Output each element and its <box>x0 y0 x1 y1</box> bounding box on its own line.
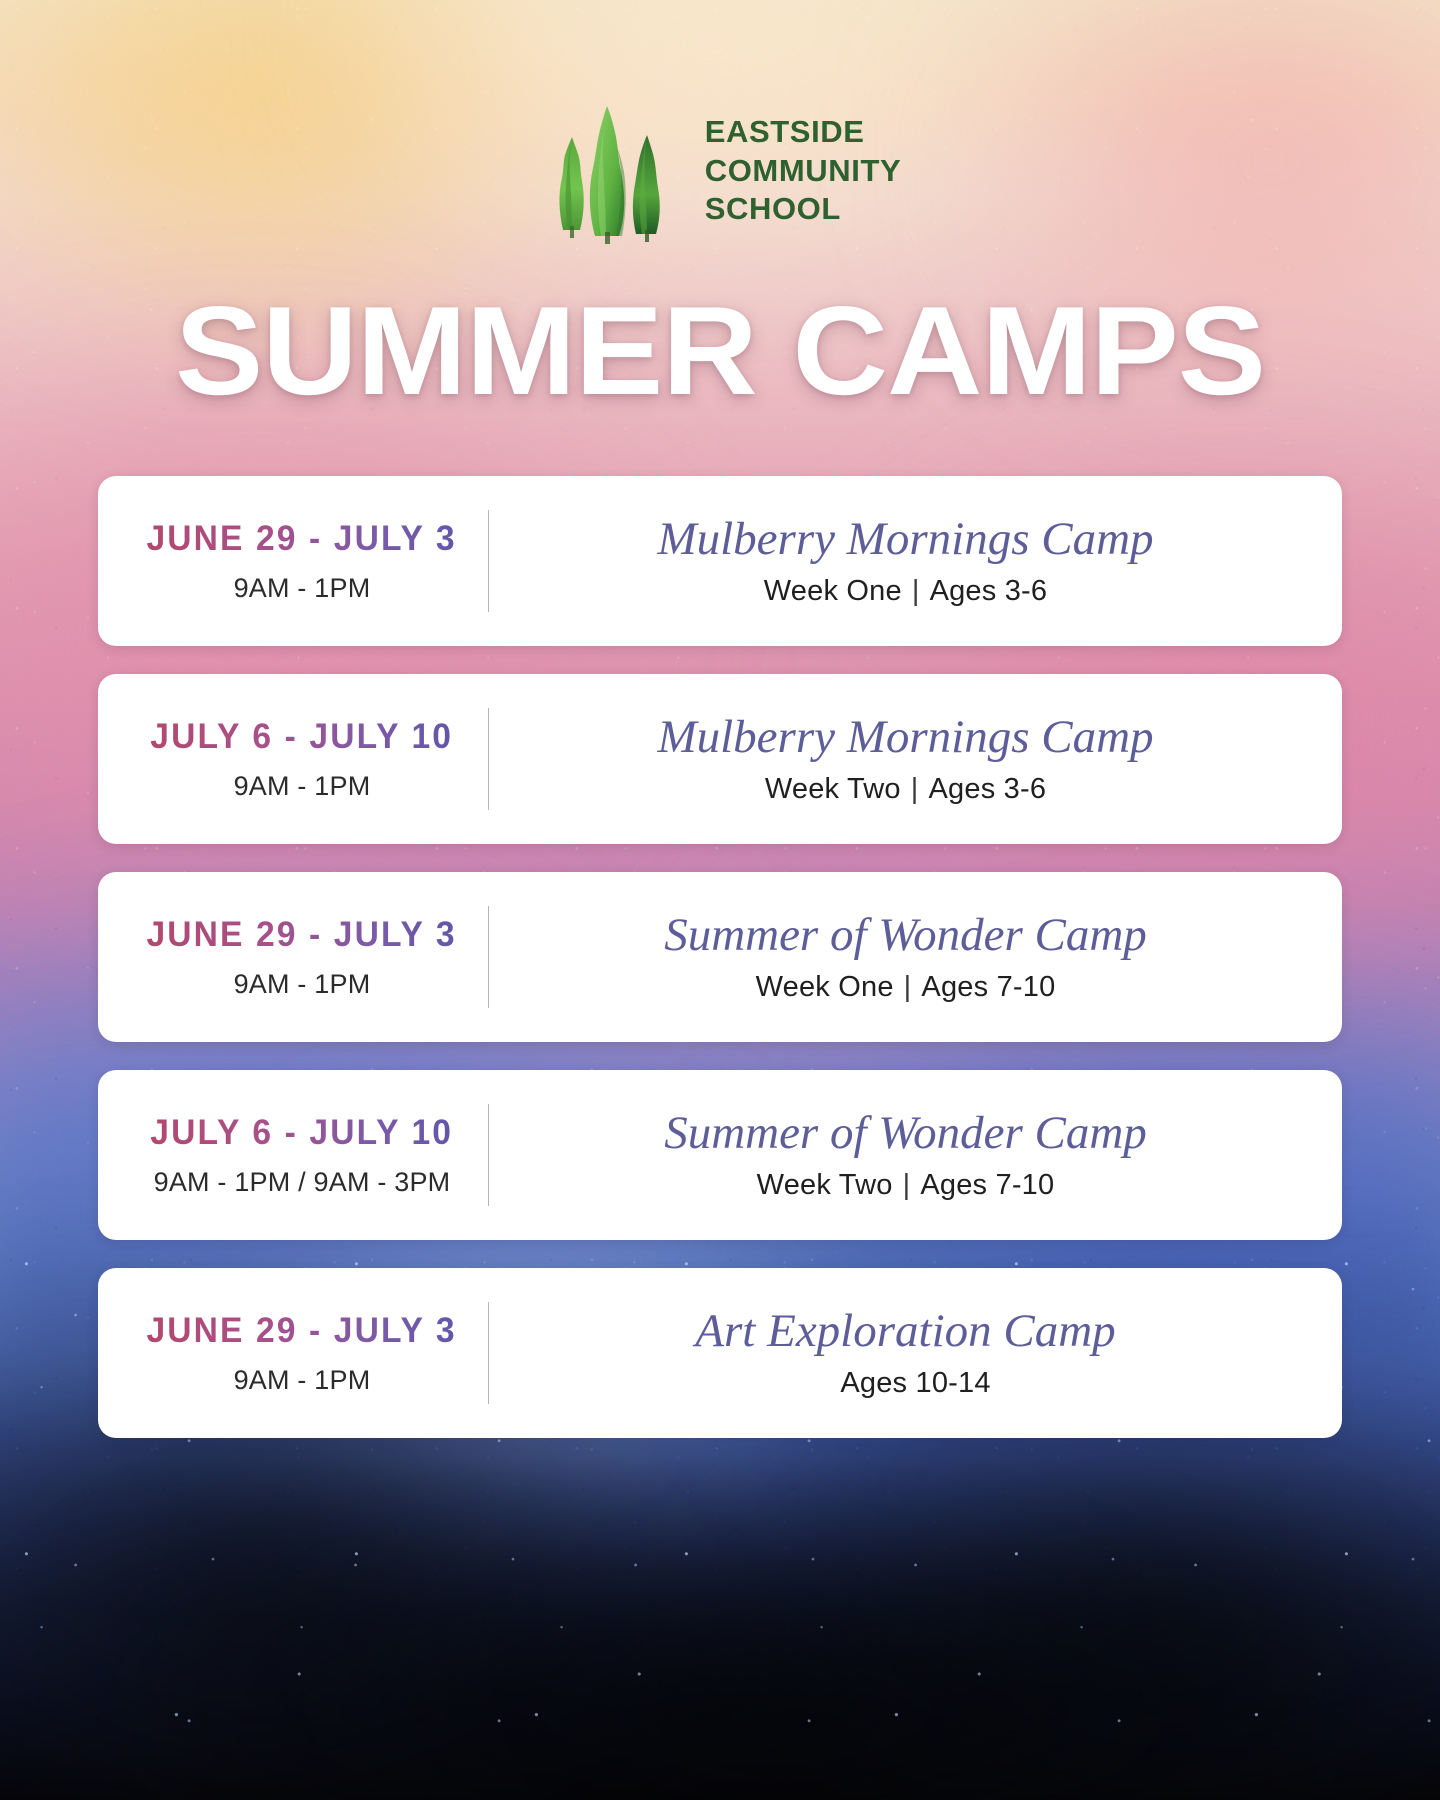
camp-card[interactable]: JUNE 29 - JULY 3 9AM - 1PM Art Explorati… <box>98 1268 1342 1438</box>
camp-schedule-block: JULY 6 - JULY 10 9AM - 1PM <box>98 674 488 844</box>
camp-schedule-block: JUNE 29 - JULY 3 9AM - 1PM <box>98 476 488 646</box>
camp-card[interactable]: JULY 6 - JULY 10 9AM - 1PM / 9AM - 3PM S… <box>98 1070 1342 1240</box>
camp-time: 9AM - 1PM <box>234 771 371 802</box>
camp-subtitle-separator: | <box>894 971 922 1003</box>
camp-time: 9AM - 1PM <box>234 573 371 604</box>
camp-dates: JUNE 29 - JULY 3 <box>147 1311 457 1351</box>
camp-schedule-block: JUNE 29 - JULY 3 9AM - 1PM <box>98 872 488 1042</box>
camp-week: Week Two <box>757 1169 893 1201</box>
camp-details-block: Mulberry Mornings Camp Week Two|Ages 3-6 <box>489 674 1342 844</box>
camp-name: Summer of Wonder Camp <box>664 1108 1147 1159</box>
camp-card[interactable]: JUNE 29 - JULY 3 9AM - 1PM Summer of Won… <box>98 872 1342 1042</box>
camp-schedule-list: JUNE 29 - JULY 3 9AM - 1PM Mulberry Morn… <box>0 476 1440 1438</box>
camp-subtitle-separator: | <box>893 1169 921 1201</box>
camp-week: Week Two <box>765 773 901 805</box>
camp-ages: Ages 3-6 <box>930 575 1048 607</box>
camp-ages: Ages 7-10 <box>921 971 1055 1003</box>
camp-dates: JUNE 29 - JULY 3 <box>147 519 457 559</box>
camp-schedule-block: JUNE 29 - JULY 3 9AM - 1PM <box>98 1268 488 1438</box>
camp-week: Week One <box>756 971 894 1003</box>
camp-dates: JULY 6 - JULY 10 <box>151 1113 454 1153</box>
camp-subtitle: Week One|Ages 7-10 <box>756 971 1056 1004</box>
brand-name: EASTSIDE COMMUNITY SCHOOL <box>705 113 902 228</box>
brand-name-line-3: SCHOOL <box>705 190 902 228</box>
camp-time: 9AM - 1PM <box>234 969 371 1000</box>
camp-week: Week One <box>764 575 902 607</box>
camp-subtitle: Ages 10-14 <box>820 1367 990 1400</box>
brand-logo: EASTSIDE COMMUNITY SCHOOL <box>0 0 1440 246</box>
camp-name: Art Exploration Camp <box>695 1306 1115 1357</box>
camp-schedule-block: JULY 6 - JULY 10 9AM - 1PM / 9AM - 3PM <box>98 1070 488 1240</box>
camp-details-block: Art Exploration Camp Ages 10-14 <box>489 1268 1342 1438</box>
camp-name: Summer of Wonder Camp <box>664 910 1147 961</box>
camp-time: 9AM - 1PM / 9AM - 3PM <box>154 1167 451 1198</box>
camp-subtitle-separator <box>820 1367 840 1399</box>
camp-ages: Ages 3-6 <box>929 773 1047 805</box>
camp-details-block: Mulberry Mornings Camp Week One|Ages 3-6 <box>489 476 1342 646</box>
camp-subtitle-separator: | <box>901 773 929 805</box>
page-title: SUMMER CAMPS <box>0 288 1440 414</box>
camp-dates: JUNE 29 - JULY 3 <box>147 915 457 955</box>
camp-time: 9AM - 1PM <box>234 1365 371 1396</box>
brand-name-line-1: EASTSIDE <box>705 113 902 151</box>
three-cypress-trees-icon <box>539 96 679 246</box>
brand-name-line-2: COMMUNITY <box>705 152 902 190</box>
camp-details-block: Summer of Wonder Camp Week Two|Ages 7-10 <box>489 1070 1342 1240</box>
camp-subtitle: Week One|Ages 3-6 <box>764 575 1047 608</box>
camp-name: Mulberry Mornings Camp <box>657 514 1153 565</box>
camp-subtitle: Week Two|Ages 7-10 <box>757 1169 1055 1202</box>
camp-subtitle: Week Two|Ages 3-6 <box>765 773 1046 806</box>
camp-details-block: Summer of Wonder Camp Week One|Ages 7-10 <box>489 872 1342 1042</box>
camp-card[interactable]: JUNE 29 - JULY 3 9AM - 1PM Mulberry Morn… <box>98 476 1342 646</box>
camp-dates: JULY 6 - JULY 10 <box>151 717 454 757</box>
camp-ages: Ages 10-14 <box>840 1367 990 1399</box>
camp-name: Mulberry Mornings Camp <box>657 712 1153 763</box>
camp-subtitle-separator: | <box>902 575 930 607</box>
camp-ages: Ages 7-10 <box>920 1169 1054 1201</box>
camp-card[interactable]: JULY 6 - JULY 10 9AM - 1PM Mulberry Morn… <box>98 674 1342 844</box>
